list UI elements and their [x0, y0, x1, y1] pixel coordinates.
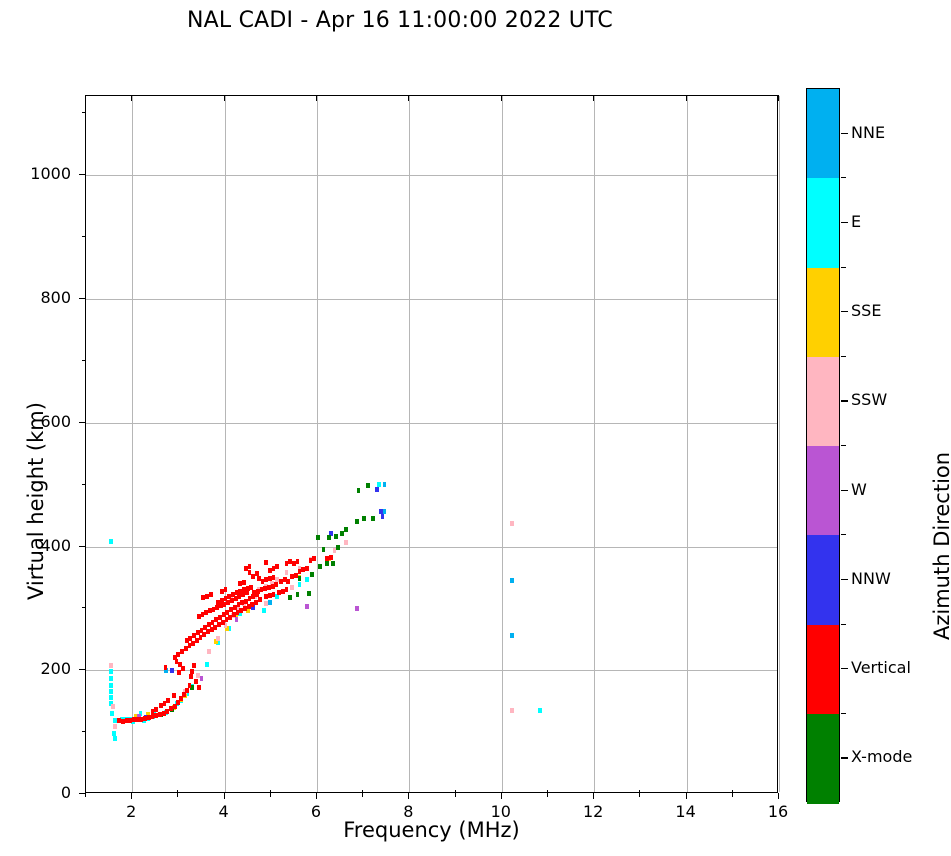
colorbar-band-vertical: [807, 625, 839, 715]
x-tick-top: [686, 95, 687, 101]
colorbar-tick: [841, 757, 848, 758]
data-point-vertical: [209, 592, 213, 597]
data-point-x-mode: [355, 519, 359, 524]
y-tick: [79, 793, 85, 794]
data-point-vertical: [274, 582, 278, 587]
x-minor-tick: [547, 793, 548, 797]
data-point-vertical: [255, 571, 259, 576]
x-minor-tick: [455, 793, 456, 797]
data-point-nnw: [375, 487, 379, 492]
data-point-ssw: [207, 649, 211, 654]
colorbar-boundary-tick: [841, 177, 846, 178]
data-point-ssw: [344, 540, 348, 545]
colorbar-boundary-tick: [841, 445, 846, 446]
data-point-ssw: [216, 636, 220, 641]
x-minor-tick-top: [362, 790, 363, 794]
data-point-vertical: [185, 688, 189, 693]
data-point-vertical: [197, 685, 201, 690]
data-point-e: [110, 711, 114, 716]
colorbar-label-ssw: SSW: [851, 390, 887, 409]
x-minor-tick: [362, 793, 363, 797]
plot-area: [85, 95, 778, 793]
y-tick: [79, 174, 85, 175]
data-point-ssw: [111, 704, 115, 709]
data-point-vertical: [189, 674, 193, 679]
y-minor-tick: [82, 360, 86, 361]
data-point-e: [109, 676, 113, 681]
data-point-x-mode: [325, 561, 329, 566]
y-tick: [79, 546, 85, 547]
x-minor-tick-top: [547, 790, 548, 794]
x-tick: [501, 793, 502, 799]
data-point-nne: [383, 482, 387, 487]
data-point-nne: [510, 633, 514, 638]
x-minor-tick-top: [732, 790, 733, 794]
colorbar-boundary-tick: [841, 534, 846, 535]
x-minor-tick: [639, 793, 640, 797]
colorbar: [806, 88, 840, 802]
data-point-vertical: [312, 556, 316, 561]
data-point-x-mode: [310, 572, 314, 577]
data-point-x-mode: [357, 488, 361, 493]
y-tick: [79, 422, 85, 423]
x-tick-top: [316, 95, 317, 101]
data-point-vertical: [258, 597, 262, 602]
y-minor-tick: [82, 112, 86, 113]
x-tick: [686, 793, 687, 799]
colorbar-tick: [841, 668, 848, 669]
data-point-vertical: [194, 679, 198, 684]
data-point-w: [200, 676, 204, 681]
data-point-vertical: [201, 595, 205, 600]
data-point-x-mode: [298, 576, 302, 581]
data-point-vertical: [272, 575, 276, 580]
data-point-vertical: [178, 662, 182, 667]
data-point-ssw: [109, 663, 113, 668]
data-point-e: [298, 582, 302, 587]
data-point-x-mode: [344, 527, 348, 532]
colorbar-label-w: W: [851, 480, 867, 499]
data-point-vertical: [154, 707, 158, 712]
data-point-e: [113, 718, 117, 723]
y-minor-tick: [82, 731, 86, 732]
data-point-vertical: [188, 683, 192, 688]
x-minor-tick: [732, 793, 733, 797]
data-point-x-mode: [362, 516, 366, 521]
colorbar-band-ssw: [807, 357, 839, 447]
data-point-w: [355, 606, 359, 611]
data-point-x-mode: [296, 592, 300, 597]
data-point-vertical: [272, 592, 276, 597]
colorbar-band-nne: [807, 89, 839, 179]
data-point-x-mode: [318, 564, 322, 569]
data-point-w: [305, 604, 309, 609]
data-point-vertical: [305, 566, 309, 571]
x-minor-tick: [85, 793, 86, 797]
data-point-x-mode: [307, 591, 311, 596]
x-minor-tick-top: [177, 790, 178, 794]
data-point-vertical: [181, 666, 185, 671]
data-point-vertical: [224, 587, 228, 592]
y-tick: [79, 298, 85, 299]
x-tick-top: [778, 95, 779, 101]
data-point-w: [235, 617, 239, 622]
data-point-nne: [510, 578, 514, 583]
data-point-e: [538, 708, 542, 713]
x-tick-top: [224, 95, 225, 101]
x-tick: [316, 793, 317, 799]
data-point-vertical: [248, 564, 252, 569]
data-point-nne: [268, 600, 272, 605]
x-minor-tick: [270, 793, 271, 797]
data-point-e: [109, 539, 113, 544]
data-point-x-mode: [366, 483, 370, 488]
y-minor-tick: [82, 484, 86, 485]
y-axis-label: Virtual height (km): [24, 402, 48, 600]
gridline-vertical: [779, 96, 780, 792]
data-point-vertical: [264, 560, 268, 565]
x-tick: [408, 793, 409, 799]
x-tick-top: [501, 95, 502, 101]
x-tick: [131, 793, 132, 799]
data-point-ssw: [113, 724, 117, 729]
colorbar-tick: [841, 222, 848, 223]
data-point-nnw: [381, 514, 385, 519]
data-point-e: [109, 695, 113, 700]
colorbar-label-nnw: NNW: [851, 569, 891, 588]
colorbar-label-vertical: Vertical: [851, 658, 911, 677]
data-point-vertical: [296, 559, 300, 564]
data-point-vertical: [257, 576, 261, 581]
colorbar-boundary-tick: [841, 356, 846, 357]
x-tick-top: [408, 95, 409, 101]
x-tick: [224, 793, 225, 799]
data-point-vertical: [286, 579, 290, 584]
x-tick: [778, 793, 779, 799]
y-tick-label: 1000: [1, 164, 71, 183]
colorbar-band-w: [807, 446, 839, 536]
colorbar-label-nne: NNE: [851, 123, 885, 142]
data-point-vertical: [242, 580, 246, 585]
data-point-vertical: [177, 670, 181, 675]
data-point-x-mode: [336, 545, 340, 550]
colorbar-band-x-mode: [807, 714, 839, 804]
data-point-vertical: [190, 669, 194, 674]
y-tick-label: 0: [1, 783, 71, 802]
colorbar-boundary-tick: [841, 267, 846, 268]
figure-title: NAL CADI - Apr 16 11:00:00 2022 UTC: [0, 8, 800, 33]
data-point-e: [205, 662, 209, 667]
colorbar-boundary-tick: [841, 624, 846, 625]
y-minor-tick: [82, 607, 86, 608]
colorbar-title: Azimuth Direction: [930, 452, 951, 640]
colorbar-label-sse: SSE: [851, 301, 881, 320]
data-point-ssw: [290, 585, 294, 590]
data-point-vertical: [176, 700, 180, 705]
x-minor-tick-top: [455, 790, 456, 794]
data-point-vertical: [172, 693, 176, 698]
x-minor-tick: [177, 793, 178, 797]
data-point-vertical: [166, 698, 170, 703]
colorbar-band-sse: [807, 268, 839, 358]
data-points-layer: [86, 96, 777, 792]
data-point-e: [109, 669, 113, 674]
x-axis-label: Frequency (MHz): [85, 818, 778, 842]
figure-canvas: NAL CADI - Apr 16 11:00:00 2022 UTC 2468…: [0, 0, 951, 856]
x-tick-top: [131, 95, 132, 101]
data-point-x-mode: [316, 535, 320, 540]
data-point-x-mode: [322, 547, 326, 552]
y-tick: [79, 669, 85, 670]
data-point-ssw: [285, 570, 289, 575]
data-point-x-mode: [334, 534, 338, 539]
data-point-ssw: [264, 601, 268, 606]
data-point-vertical: [248, 570, 252, 575]
data-point-e: [113, 736, 117, 741]
colorbar-tick: [841, 400, 848, 401]
colorbar-tick: [841, 490, 848, 491]
data-point-vertical: [164, 665, 168, 670]
data-point-nnw: [170, 668, 174, 673]
data-point-e: [109, 689, 113, 694]
data-point-ssw: [510, 521, 514, 526]
colorbar-tick: [841, 311, 848, 312]
colorbar-boundary-tick: [841, 713, 846, 714]
x-tick: [593, 793, 594, 799]
x-minor-tick-top: [639, 790, 640, 794]
x-minor-tick-top: [270, 790, 271, 794]
data-point-vertical: [285, 587, 289, 592]
data-point-x-mode: [371, 516, 375, 521]
colorbar-label-e: E: [851, 212, 861, 231]
colorbar-label-x-mode: X-mode: [851, 747, 912, 766]
data-point-ssw: [510, 708, 514, 713]
colorbar-tick: [841, 133, 848, 134]
x-minor-tick-top: [85, 790, 86, 794]
data-point-x-mode: [331, 561, 335, 566]
y-minor-tick: [82, 236, 86, 237]
y-tick-label: 800: [1, 288, 71, 307]
colorbar-tick: [841, 579, 848, 580]
data-point-vertical: [329, 555, 333, 560]
data-point-e: [109, 683, 113, 688]
data-point-vertical: [182, 692, 186, 697]
colorbar-band-nnw: [807, 535, 839, 625]
data-point-e: [262, 608, 266, 613]
x-tick-top: [593, 95, 594, 101]
data-point-x-mode: [327, 535, 331, 540]
data-point-vertical: [275, 564, 279, 569]
data-point-x-mode: [288, 595, 292, 600]
data-point-vertical: [192, 663, 196, 668]
colorbar-band-e: [807, 178, 839, 268]
data-point-e: [305, 577, 309, 582]
y-tick-label: 200: [1, 659, 71, 678]
